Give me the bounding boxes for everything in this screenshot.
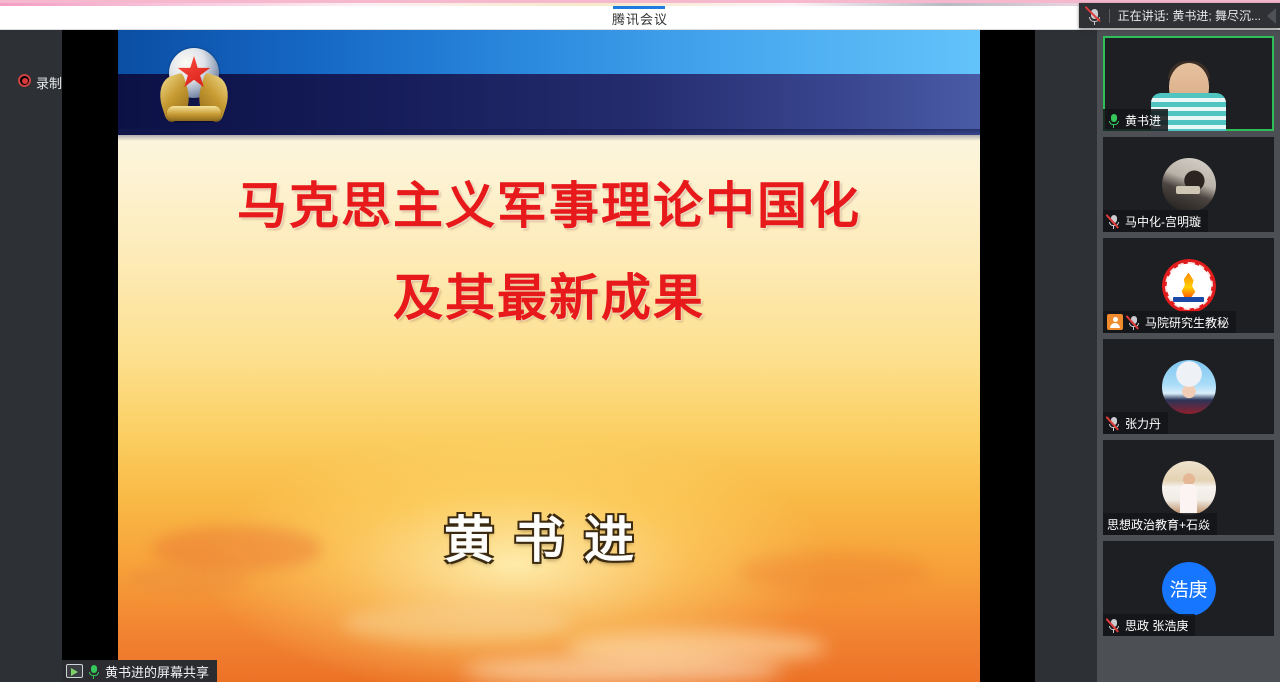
participant-tile[interactable]: 思想政治教育+石焱 [1103,440,1274,535]
collapse-arrow-icon[interactable] [1267,8,1276,24]
mic-off-icon [1107,214,1120,229]
participant-tile[interactable]: 马院研究生教秘 [1103,238,1274,333]
participant-nameplate: 马院研究生教秘 [1103,311,1236,333]
participant-avatar [1162,158,1216,212]
participant-tile[interactable]: 张力丹 [1103,339,1274,434]
host-person-icon [1107,314,1123,330]
pill-divider [1109,9,1110,23]
participant-name: 马院研究生教秘 [1145,314,1229,331]
participant-nameplate: 思想政治教育+石焱 [1103,513,1217,535]
mic-off-icon [1127,315,1140,330]
presentation-slide: 马克思主义军事理论中国化 及其最新成果 黄书进 [118,30,980,682]
slide-title-line-1: 马克思主义军事理论中国化 [237,177,861,235]
mic-off-icon [1107,618,1120,633]
screen-share-banner: 黄书进的屏幕共享 [62,660,217,682]
meeting-window: 腾讯会议 正在讲话: 黄书进; 舞尽沉... 录制中 [0,0,1280,682]
slide-header-band [118,30,980,135]
mic-on-icon [87,664,100,679]
band-fade [118,129,980,141]
cloud-shape [463,656,783,682]
mic-on-icon [1107,113,1120,128]
speaking-status-text: 正在讲话: 黄书进; 舞尽沉... [1118,7,1261,24]
slide-title: 马克思主义军事理论中国化 及其最新成果 [118,160,980,344]
participant-name: 马中化-宫明璇 [1125,213,1201,230]
participant-name: 黄书进 [1125,112,1161,129]
participant-tile[interactable]: 黄书进 [1103,36,1274,131]
participant-name: 张力丹 [1125,415,1161,432]
avatar-initials: 浩庚 [1162,562,1216,616]
shared-screen-stage[interactable]: 马克思主义军事理论中国化 及其最新成果 黄书进 黄书进的屏幕共享 [62,30,1035,682]
participant-name: 思政 张浩庚 [1125,617,1188,634]
participant-tile[interactable]: 浩庚 思政 张浩庚 [1103,541,1274,636]
participant-panel: 黄书进 马中化-宫明璇 [1035,30,1280,682]
cloud-shape [342,604,572,642]
participant-avatar [1162,360,1216,414]
participant-avatar [1162,259,1216,313]
speaking-status-pill[interactable]: 正在讲话: 黄书进; 舞尽沉... [1079,3,1280,28]
mic-off-icon [1087,7,1103,25]
record-dot-icon [18,74,31,87]
participant-tile[interactable]: 马中化-宫明璇 [1103,137,1274,232]
pla-star-wreath-emblem-icon [158,48,230,126]
left-rail: 录制中 [0,30,62,682]
participant-nameplate: 马中化-宫明璇 [1103,210,1208,232]
participant-nameplate: 黄书进 [1103,109,1168,131]
participant-name: 思想政治教育+石焱 [1107,516,1210,533]
participant-nameplate: 思政 张浩庚 [1103,614,1195,636]
slide-author-name: 黄书进 [118,500,980,572]
participant-nameplate: 张力丹 [1103,412,1168,434]
screen-share-label: 黄书进的屏幕共享 [105,662,209,681]
slide-title-line-2: 及其最新成果 [118,252,980,344]
cloud-shape [566,630,826,664]
participant-avatar [1162,461,1216,515]
screen-share-icon [66,664,83,678]
participant-list[interactable]: 黄书进 马中化-宫明璇 [1097,30,1280,682]
mic-off-icon [1107,416,1120,431]
participant-avatar: 浩庚 [1162,562,1216,616]
